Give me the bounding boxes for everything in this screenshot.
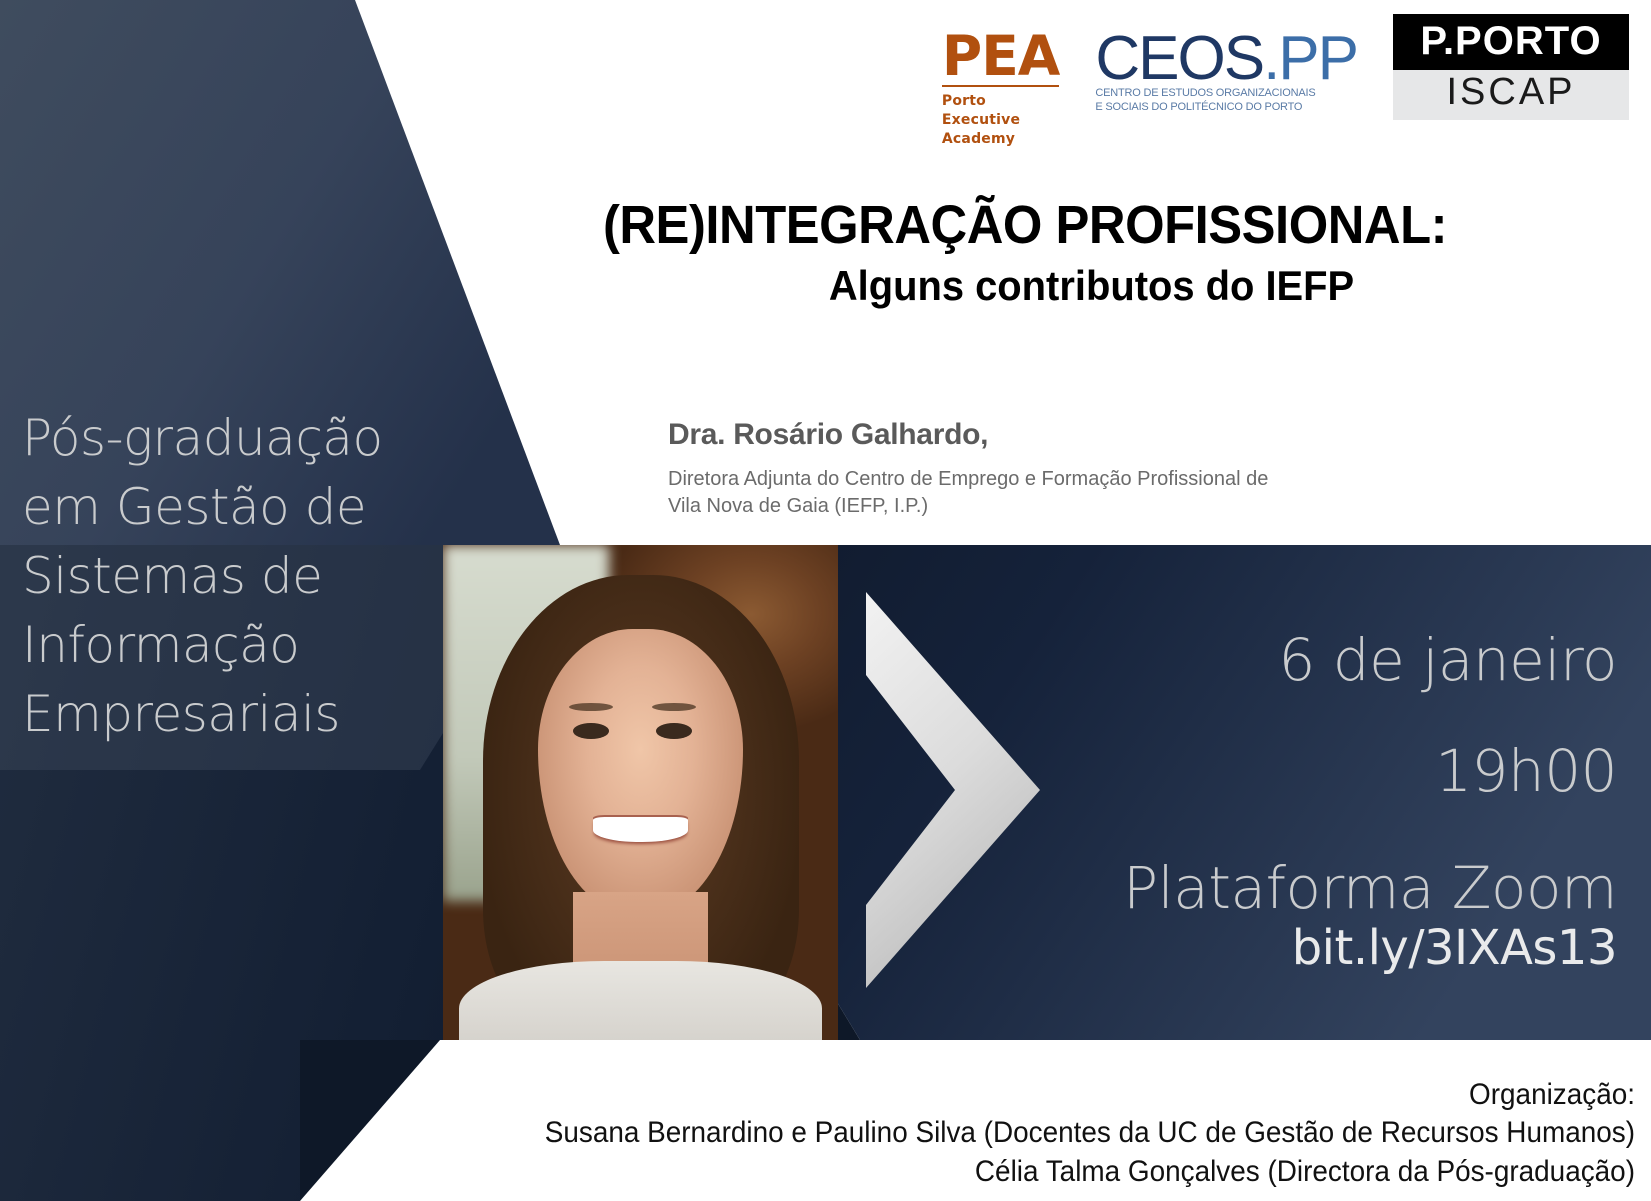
pea-tagline-line-1: Porto bbox=[942, 92, 1020, 111]
ceos-wordmark-dark: CEO bbox=[1095, 24, 1223, 93]
pporto-iscap-logo: P.PORTO ISCAP bbox=[1393, 14, 1629, 120]
course-name-line-1: Pós-graduação bbox=[22, 404, 492, 473]
pea-tagline: Porto Executive Academy bbox=[942, 92, 1020, 149]
ceos-wordmark-s: S bbox=[1224, 24, 1263, 93]
event-poster: PEA Porto Executive Academy CEOS.PP CENT… bbox=[0, 0, 1651, 1201]
speaker-role-line-2: Vila Nova de Gaia (IEFP, I.P.) bbox=[668, 493, 1428, 520]
ceos-subtitle-line-2: E SOCIAIS DO POLITÉCNICO DO PORTO bbox=[1095, 101, 1302, 115]
pea-rule bbox=[942, 85, 1059, 87]
ceos-wordmark: CEOS.PP bbox=[1095, 30, 1357, 87]
page-title: (RE)INTEGRAÇÃO PROFISSIONAL: bbox=[503, 196, 1546, 254]
ceos-pp-logo: CEOS.PP CENTRO DE ESTUDOS ORGANIZACIONAI… bbox=[1095, 14, 1357, 115]
event-registration-link[interactable]: bit.ly/3IXAs13 bbox=[997, 923, 1617, 973]
pporto-wordmark: P.PORTO bbox=[1393, 14, 1629, 70]
ceos-wordmark-light: .PP bbox=[1263, 24, 1357, 93]
speaker-role-line-1: Diretora Adjunta do Centro de Emprego e … bbox=[668, 466, 1428, 493]
title-block: (RE)INTEGRAÇÃO PROFISSIONAL: Alguns cont… bbox=[470, 196, 1580, 311]
credits-line-2: Célia Talma Gonçalves (Directora da Pós-… bbox=[463, 1153, 1635, 1191]
speaker-role: Diretora Adjunta do Centro de Emprego e … bbox=[668, 466, 1428, 520]
event-date: 6 de janeiro bbox=[997, 630, 1617, 691]
ceos-subtitle-line-1: CENTRO DE ESTUDOS ORGANIZACIONAIS bbox=[1095, 87, 1315, 101]
credits-line-1: Susana Bernardino e Paulino Silva (Docen… bbox=[463, 1114, 1635, 1152]
pea-wordmark: PEA bbox=[942, 30, 1059, 82]
pea-tagline-line-2: Executive bbox=[942, 111, 1020, 130]
pea-tagline-line-3: Academy bbox=[942, 130, 1020, 149]
speaker-name: Dra. Rosário Galhardo, bbox=[668, 418, 1428, 452]
course-name-line-4: Informação bbox=[22, 611, 492, 680]
event-time: 19h00 bbox=[997, 741, 1617, 802]
event-platform: Plataforma Zoom bbox=[997, 858, 1617, 919]
speaker-photo bbox=[443, 545, 838, 1040]
pea-logo: PEA Porto Executive Academy bbox=[942, 14, 1059, 149]
organization-credits: Organização: Susana Bernardino e Paulino… bbox=[375, 1076, 1635, 1191]
credits-heading: Organização: bbox=[463, 1076, 1635, 1114]
course-name-line-3: Sistemas de bbox=[22, 542, 492, 611]
course-name-line-2: em Gestão de bbox=[22, 473, 492, 542]
course-name: Pós-graduação em Gestão de Sistemas de I… bbox=[22, 404, 492, 749]
logo-row: PEA Porto Executive Academy CEOS.PP CENT… bbox=[942, 14, 1629, 149]
iscap-wordmark: ISCAP bbox=[1393, 70, 1629, 120]
event-details: 6 de janeiro 19h00 Plataforma Zoom bit.l… bbox=[997, 630, 1617, 973]
page-subtitle: Alguns contributos do IEFP bbox=[498, 262, 1553, 310]
course-name-line-5: Empresariais bbox=[22, 680, 492, 749]
speaker-block: Dra. Rosário Galhardo, Diretora Adjunta … bbox=[668, 418, 1428, 520]
